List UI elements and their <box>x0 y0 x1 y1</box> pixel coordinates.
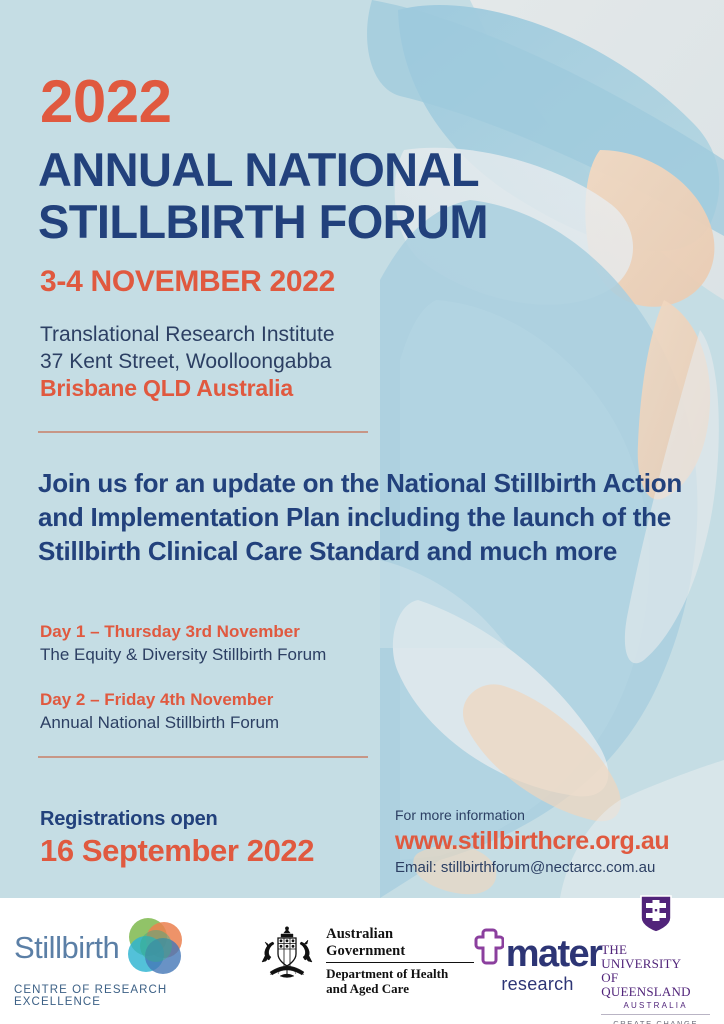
registration-block: Registrations open 16 September 2022 <box>40 806 314 870</box>
venue-city: Brisbane QLD Australia <box>40 375 335 402</box>
mater-research-subtitle: research <box>501 974 573 995</box>
uq-country: AUSTRALIA <box>624 1001 688 1010</box>
list-item: Day 2 – Friday 4th November Annual Natio… <box>40 688 326 734</box>
page-title: ANNUAL NATIONAL STILLBIRTH FORUM <box>38 144 678 248</box>
event-dates: 3-4 NOVEMBER 2022 <box>40 266 335 298</box>
commonwealth-coat-of-arms-icon <box>256 926 318 997</box>
uq-crest-icon <box>639 894 673 939</box>
day-title: Day 2 – Friday 4th November <box>40 688 326 711</box>
sponsor-footer: Stillbirth CENTRE OF RESEARCH EXCELLENCE <box>0 898 724 1024</box>
email-link[interactable]: Email: stillbirthforum@nectarcc.com.au <box>395 857 669 879</box>
logo-australian-government: Australian Government Department of Heal… <box>256 926 474 997</box>
department-line-2: and Aged Care <box>326 981 474 996</box>
stillbirth-cre-wordmark: Stillbirth <box>14 930 119 966</box>
logo-university-of-queensland: THE UNIVERSITY OF QUEENSLAND AUSTRALIA C… <box>601 894 710 1024</box>
venue-name: Translational Research Institute <box>40 321 335 348</box>
title-line-2: STILLBIRTH FORUM <box>38 196 678 248</box>
stillbirth-cre-tagline: CENTRE OF RESEARCH EXCELLENCE <box>14 984 256 1008</box>
contact-label: For more information <box>395 806 669 825</box>
uq-motto: CREATE CHANGE <box>601 1014 710 1024</box>
stillbirth-cre-circles-icon <box>123 915 185 982</box>
website-link[interactable]: www.stillbirthcre.org.au <box>395 825 669 857</box>
venue-block: Translational Research Institute 37 Kent… <box>40 321 335 402</box>
day-list: Day 1 – Thursday 3rd November The Equity… <box>40 620 326 756</box>
uq-line-2: OF QUEENSLAND <box>601 971 710 999</box>
divider-top <box>38 431 368 433</box>
registration-date: 16 September 2022 <box>40 832 314 870</box>
mater-cross-icon <box>474 928 504 971</box>
logo-mater-research: mater research <box>474 928 602 995</box>
divider-bottom <box>38 756 368 758</box>
uq-line-1: THE UNIVERSITY <box>601 943 710 971</box>
poster-content: 2022 ANNUAL NATIONAL STILLBIRTH FORUM 3-… <box>0 0 724 898</box>
venue-street: 37 Kent Street, Woolloongabba <box>40 348 335 375</box>
list-item: Day 1 – Thursday 3rd November The Equity… <box>40 620 326 666</box>
day-subtitle: Annual National Stillbirth Forum <box>40 711 326 734</box>
mater-wordmark: mater <box>506 937 602 971</box>
poster: 2022 ANNUAL NATIONAL STILLBIRTH FORUM 3-… <box>0 0 724 1024</box>
poster-year: 2022 <box>40 72 171 132</box>
department-line-1: Department of Health <box>326 966 474 981</box>
event-description: Join us for an update on the National St… <box>38 466 683 568</box>
logo-stillbirth-cre: Stillbirth CENTRE OF RESEARCH EXCELLENCE <box>14 915 256 1008</box>
day-subtitle: The Equity & Diversity Stillbirth Forum <box>40 643 326 666</box>
registration-label: Registrations open <box>40 806 314 832</box>
australian-government-wordmark: Australian Government <box>326 926 474 963</box>
title-line-1: ANNUAL NATIONAL <box>38 144 678 196</box>
contact-block: For more information www.stillbirthcre.o… <box>395 806 669 879</box>
day-title: Day 1 – Thursday 3rd November <box>40 620 326 643</box>
